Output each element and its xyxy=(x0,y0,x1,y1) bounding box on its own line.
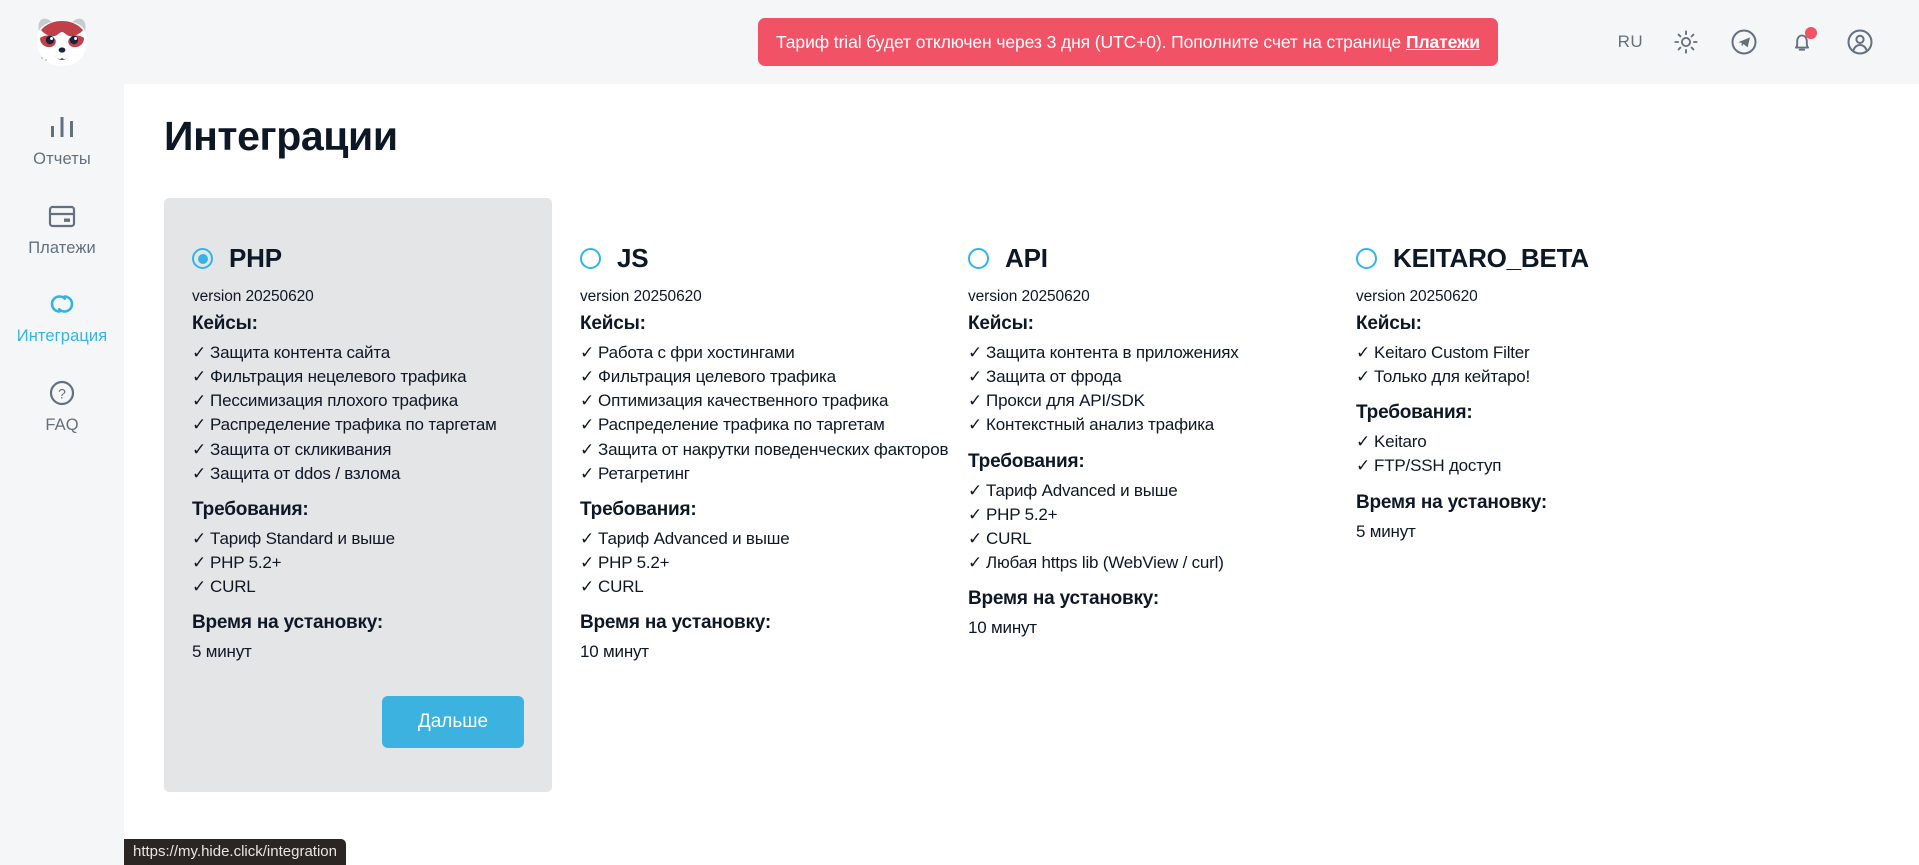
app-root: Отчеты Платежи Интеграция xyxy=(0,0,1919,865)
card-title: JS xyxy=(617,243,648,274)
requirement-item: ✓FTP/SSH доступ xyxy=(1356,454,1688,478)
sidebar-item-payments[interactable]: Платежи xyxy=(0,197,124,257)
radio-keitaro_beta[interactable] xyxy=(1356,248,1377,269)
case-item-label: Фильтрация целевого трафика xyxy=(598,367,836,386)
sidebar: Отчеты Платежи Интеграция xyxy=(0,0,124,865)
install-time-heading: Время на установку: xyxy=(968,588,1300,610)
case-item: ✓Защита контента в приложениях xyxy=(968,341,1300,365)
integration-card-keitaro_beta[interactable]: KEITARO_BETAversion 20250620Кейсы:✓Keita… xyxy=(1328,198,1716,572)
sidebar-item-label: Интеграция xyxy=(17,328,108,345)
case-item: ✓Защита от ddos / взлома xyxy=(192,462,524,486)
link-icon xyxy=(43,285,81,323)
case-item-label: Защита от ddos / взлома xyxy=(210,464,400,483)
integration-card-js[interactable]: JSversion 20250620Кейсы:✓Работа с фри хо… xyxy=(552,198,940,692)
case-item: ✓Фильтрация целевого трафика xyxy=(580,365,912,389)
cases-heading: Кейсы: xyxy=(968,313,1300,335)
check-icon: ✓ xyxy=(1356,367,1370,386)
telegram-icon[interactable] xyxy=(1729,27,1759,57)
case-item: ✓Защита от скликивания xyxy=(192,438,524,462)
requirement-item-label: PHP 5.2+ xyxy=(986,505,1057,524)
requirement-item: ✓Тариф Advanced и выше xyxy=(968,479,1300,503)
case-item: ✓Работа с фри хостингами xyxy=(580,341,912,365)
radio-dot xyxy=(198,254,208,264)
trial-alert-banner[interactable]: Тариф trial будет отключен через 3 дня (… xyxy=(758,18,1498,66)
case-item: ✓Защита от фрода xyxy=(968,365,1300,389)
check-icon: ✓ xyxy=(192,415,206,434)
case-item-label: Защита от скликивания xyxy=(210,440,391,459)
check-icon: ✓ xyxy=(192,577,206,596)
check-icon: ✓ xyxy=(580,553,594,572)
requirements-heading: Требования: xyxy=(968,451,1300,473)
case-item: ✓Только для кейтаро! xyxy=(1356,365,1688,389)
topbar-actions: RU xyxy=(1618,0,1891,84)
next-button-wrap: Дальше xyxy=(192,664,524,748)
case-item-label: Распределение трафика по таргетам xyxy=(210,415,497,434)
requirement-item-label: Любая https lib (WebView / curl) xyxy=(986,553,1224,572)
check-icon: ✓ xyxy=(192,343,206,362)
sun-icon[interactable] xyxy=(1671,27,1701,57)
check-icon: ✓ xyxy=(580,343,594,362)
check-icon: ✓ xyxy=(968,391,982,410)
check-icon: ✓ xyxy=(580,529,594,548)
integration-card-api[interactable]: APIversion 20250620Кейсы:✓Защита контент… xyxy=(940,198,1328,668)
sidebar-item-reports[interactable]: Отчеты xyxy=(0,108,124,168)
requirement-item-label: Тариф Advanced и выше xyxy=(598,529,789,548)
card-version: version 20250620 xyxy=(192,288,524,306)
check-icon: ✓ xyxy=(968,481,982,500)
check-icon: ✓ xyxy=(968,343,982,362)
card-header: API xyxy=(968,243,1300,274)
card-title: PHP xyxy=(229,243,282,274)
check-icon: ✓ xyxy=(968,505,982,524)
check-icon: ✓ xyxy=(968,553,982,572)
requirement-item-label: FTP/SSH доступ xyxy=(1374,456,1501,475)
requirement-item: ✓Keitaro xyxy=(1356,430,1688,454)
requirement-item: ✓Любая https lib (WebView / curl) xyxy=(968,551,1300,575)
case-item-label: Только для кейтаро! xyxy=(1374,367,1530,386)
case-item: ✓Оптимизация качественного трафика xyxy=(580,389,912,413)
case-item: ✓Защита контента сайта xyxy=(192,341,524,365)
case-item: ✓Защита от накрутки поведенческих фактор… xyxy=(580,438,912,462)
case-item: ✓Пессимизация плохого трафика xyxy=(192,389,524,413)
case-item: ✓Распределение трафика по таргетам xyxy=(580,413,912,437)
main-area: Тариф trial будет отключен через 3 дня (… xyxy=(124,0,1919,865)
card-header: KEITARO_BETA xyxy=(1356,243,1688,274)
bell-icon[interactable] xyxy=(1787,27,1817,57)
case-item-label: Ретагретинг xyxy=(598,464,690,483)
case-item: ✓Keitaro Custom Filter xyxy=(1356,341,1688,365)
install-time-value: 5 минут xyxy=(192,640,524,664)
case-item-label: Пессимизация плохого трафика xyxy=(210,391,458,410)
case-item-label: Прокси для API/SDK xyxy=(986,391,1145,410)
requirement-item: ✓PHP 5.2+ xyxy=(580,551,912,575)
card-version: version 20250620 xyxy=(1356,288,1688,306)
requirement-item-label: Keitaro xyxy=(1374,432,1426,451)
card-title: KEITARO_BETA xyxy=(1393,243,1589,274)
check-icon: ✓ xyxy=(1356,456,1370,475)
requirement-item-label: PHP 5.2+ xyxy=(210,553,281,572)
check-icon: ✓ xyxy=(580,367,594,386)
svg-text:?: ? xyxy=(58,385,66,401)
check-icon: ✓ xyxy=(192,391,206,410)
page-title: Интеграции xyxy=(164,84,1919,198)
install-time-heading: Время на установку: xyxy=(1356,492,1688,514)
case-item-label: Работа с фри хостингами xyxy=(598,343,795,362)
requirement-item-label: CURL xyxy=(986,529,1032,548)
question-circle-icon: ? xyxy=(43,374,81,412)
check-icon: ✓ xyxy=(192,553,206,572)
alert-text: Тариф trial будет отключен через 3 дня (… xyxy=(776,32,1401,53)
raccoon-logo[interactable] xyxy=(31,14,93,72)
account-icon[interactable] xyxy=(1845,27,1875,57)
sidebar-item-label: Отчеты xyxy=(33,151,91,168)
language-switcher[interactable]: RU xyxy=(1618,32,1643,52)
requirement-item-label: CURL xyxy=(210,577,256,596)
integration-card-php[interactable]: PHPversion 20250620Кейсы:✓Защита контент… xyxy=(164,198,552,792)
case-item: ✓Ретагретинг xyxy=(580,462,912,486)
case-item-label: Фильтрация нецелевого трафика xyxy=(210,367,466,386)
case-item-label: Защита контента в приложениях xyxy=(986,343,1239,362)
requirement-item: ✓CURL xyxy=(580,575,912,599)
sidebar-item-label: FAQ xyxy=(45,417,78,434)
check-icon: ✓ xyxy=(968,415,982,434)
card-icon xyxy=(43,197,81,235)
case-item: ✓Контекстный анализ трафика xyxy=(968,413,1300,437)
check-icon: ✓ xyxy=(968,529,982,548)
sidebar-item-integration[interactable]: Интеграция xyxy=(0,285,124,345)
requirements-heading: Требования: xyxy=(1356,402,1688,424)
topbar: Тариф trial будет отключен через 3 дня (… xyxy=(124,0,1919,84)
radio-api[interactable] xyxy=(968,248,989,269)
requirements-heading: Требования: xyxy=(580,499,912,521)
install-time-value: 5 минут xyxy=(1356,520,1688,544)
check-icon: ✓ xyxy=(580,440,594,459)
radio-php[interactable] xyxy=(192,248,213,269)
requirements-heading: Требования: xyxy=(192,499,524,521)
requirement-item-label: Тариф Standard и выше xyxy=(210,529,395,548)
requirement-item: ✓Тариф Standard и выше xyxy=(192,527,524,551)
case-item-label: Распределение трафика по таргетам xyxy=(598,415,885,434)
cases-heading: Кейсы: xyxy=(580,313,912,335)
check-icon: ✓ xyxy=(580,415,594,434)
notification-badge xyxy=(1805,27,1817,39)
requirement-item-label: PHP 5.2+ xyxy=(598,553,669,572)
case-item: ✓Фильтрация нецелевого трафика xyxy=(192,365,524,389)
check-icon: ✓ xyxy=(1356,343,1370,362)
integration-cards: PHPversion 20250620Кейсы:✓Защита контент… xyxy=(164,198,1919,792)
cases-heading: Кейсы: xyxy=(1356,313,1688,335)
card-version: version 20250620 xyxy=(968,288,1300,306)
install-time-value: 10 минут xyxy=(580,640,912,664)
check-icon: ✓ xyxy=(192,464,206,483)
alert-payments-link[interactable]: Платежи xyxy=(1406,32,1480,53)
case-item-label: Оптимизация качественного трафика xyxy=(598,391,888,410)
case-item-label: Keitaro Custom Filter xyxy=(1374,343,1529,362)
card-version: version 20250620 xyxy=(580,288,912,306)
requirement-item: ✓PHP 5.2+ xyxy=(192,551,524,575)
install-time-heading: Время на установку: xyxy=(192,612,524,634)
case-item-label: Защита контента сайта xyxy=(210,343,390,362)
content-area: Интеграции PHPversion 20250620Кейсы:✓Защ… xyxy=(124,84,1919,865)
case-item-label: Защита от накрутки поведенческих факторо… xyxy=(598,440,948,459)
check-icon: ✓ xyxy=(1356,432,1370,451)
check-icon: ✓ xyxy=(192,367,206,386)
card-title: API xyxy=(1005,243,1048,274)
radio-js[interactable] xyxy=(580,248,601,269)
case-item-label: Контекстный анализ трафика xyxy=(986,415,1214,434)
requirement-item-label: CURL xyxy=(598,577,644,596)
install-time-heading: Время на установку: xyxy=(580,612,912,634)
install-time-value: 10 минут xyxy=(968,616,1300,640)
sidebar-item-label: Платежи xyxy=(28,240,96,257)
requirement-item: ✓Тариф Advanced и выше xyxy=(580,527,912,551)
card-header: PHP xyxy=(192,243,524,274)
requirement-item: ✓PHP 5.2+ xyxy=(968,503,1300,527)
case-item-label: Защита от фрода xyxy=(986,367,1121,386)
card-header: JS xyxy=(580,243,912,274)
cases-heading: Кейсы: xyxy=(192,313,524,335)
requirement-item: ✓CURL xyxy=(192,575,524,599)
check-icon: ✓ xyxy=(580,464,594,483)
check-icon: ✓ xyxy=(580,577,594,596)
bar-chart-icon xyxy=(43,108,81,146)
check-icon: ✓ xyxy=(192,440,206,459)
check-icon: ✓ xyxy=(192,529,206,548)
sidebar-item-faq[interactable]: ? FAQ xyxy=(0,374,124,434)
requirement-item-label: Тариф Advanced и выше xyxy=(986,481,1177,500)
next-button[interactable]: Дальше xyxy=(382,696,524,748)
status-bar-url: https://my.hide.click/integration xyxy=(124,839,346,865)
case-item: ✓Распределение трафика по таргетам xyxy=(192,413,524,437)
check-icon: ✓ xyxy=(580,391,594,410)
requirement-item: ✓CURL xyxy=(968,527,1300,551)
check-icon: ✓ xyxy=(968,367,982,386)
case-item: ✓Прокси для API/SDK xyxy=(968,389,1300,413)
